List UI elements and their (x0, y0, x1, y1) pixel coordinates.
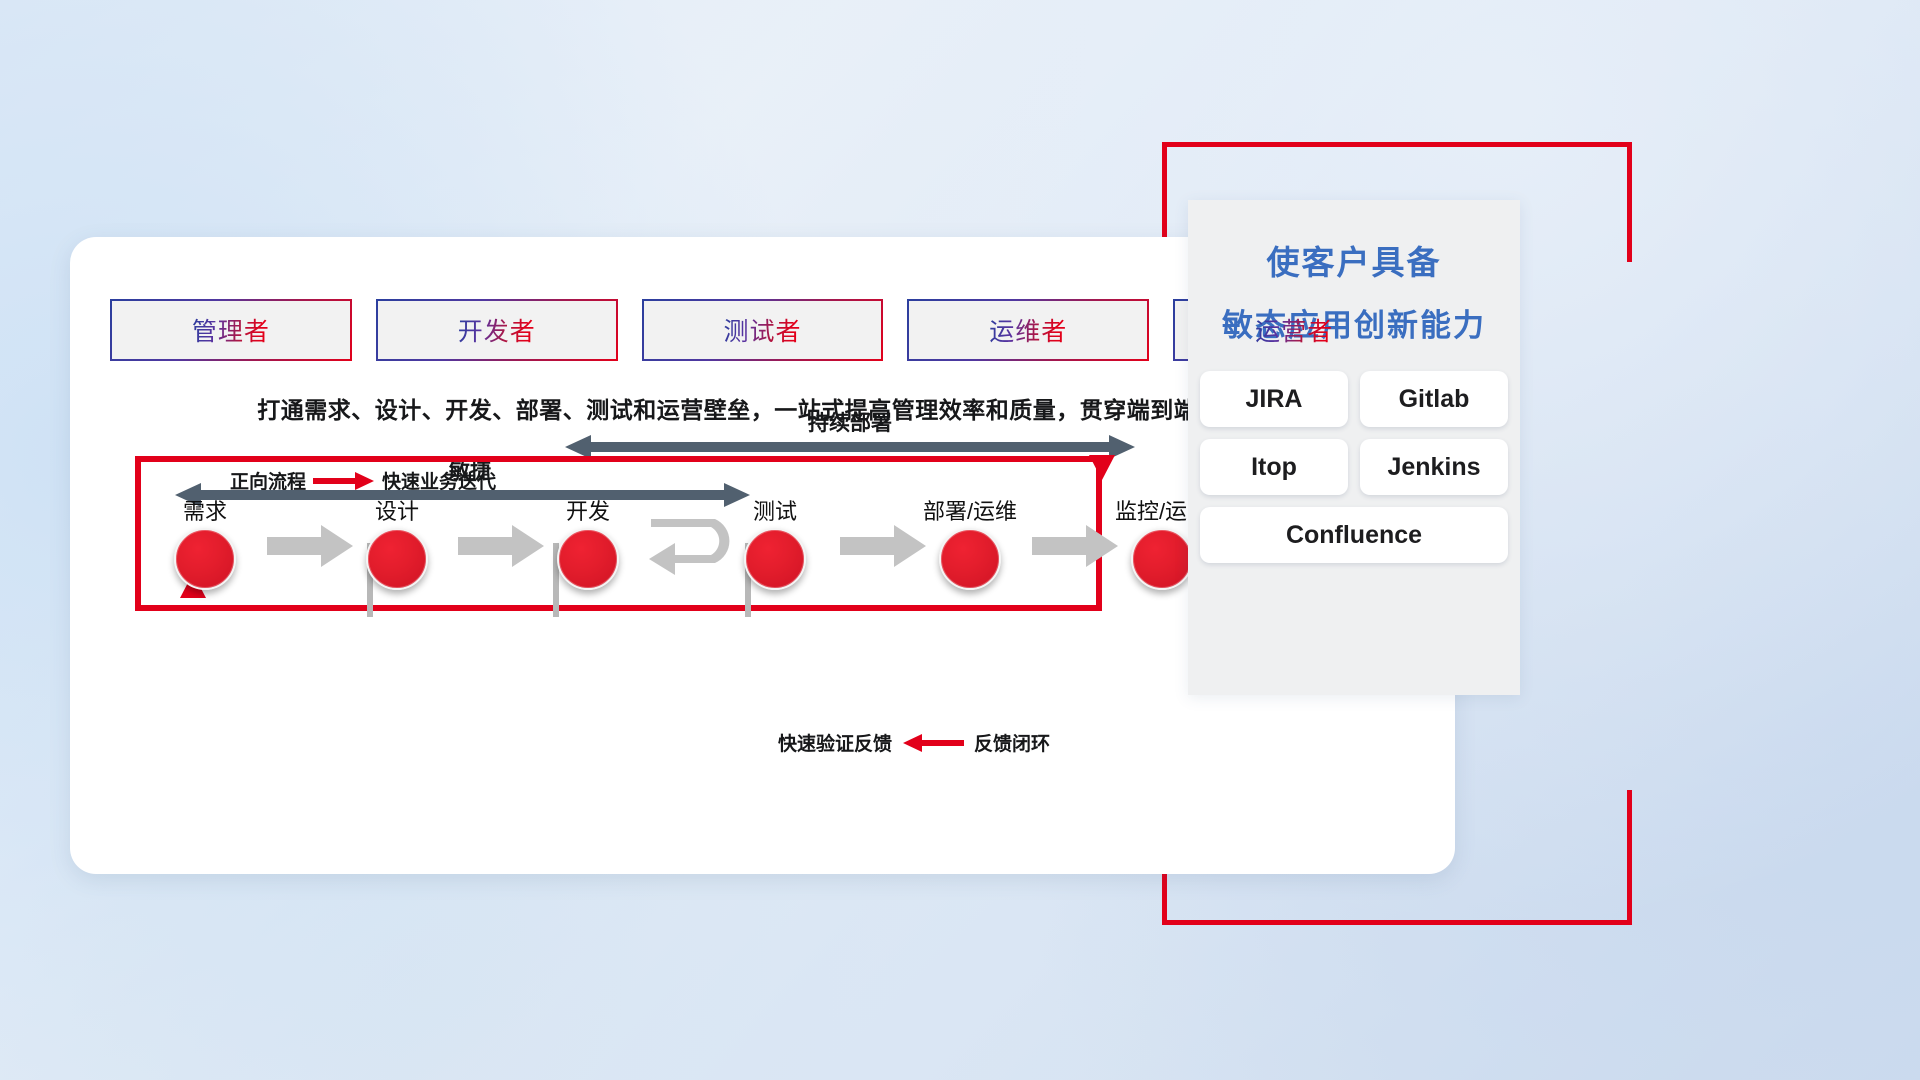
role-label: 测试者 (723, 312, 801, 348)
stage-testing[interactable]: 测试 (705, 494, 845, 590)
stage-label: 测试 (705, 494, 845, 526)
role-label: 运营者 (1255, 312, 1333, 348)
stage-label: 部署/运维 (900, 494, 1040, 526)
stage-label: 开发 (518, 494, 658, 526)
feedback-loop-legend: 快速验证反馈 反馈闭环 (778, 729, 1050, 756)
stage-row: 需求 设计 开发 测试 (100, 499, 1190, 599)
role-box-tester[interactable]: 测试者 (642, 299, 884, 361)
stage-circle-icon (939, 528, 1001, 590)
role-label: 运维者 (989, 312, 1067, 348)
tool-pill-confluence[interactable]: Confluence (1200, 507, 1508, 563)
panel-headline-line2: 敏态应用创新能力 (1188, 300, 1520, 345)
role-label: 管理者 (192, 312, 270, 348)
stage-circle-icon (174, 528, 236, 590)
stage-circle-icon (744, 528, 806, 590)
tool-list: JIRA Gitlab Itop Jenkins Confluence (1188, 371, 1520, 563)
stage-circle-icon (1131, 528, 1193, 590)
stage-label: 设计 (327, 494, 467, 526)
stage-design[interactable]: 设计 (327, 494, 467, 590)
panel-headline-line1: 使客户具备 (1188, 236, 1520, 284)
stage-label: 需求 (135, 494, 275, 526)
role-box-ops[interactable]: 运维者 (907, 299, 1149, 361)
stage-requirements[interactable]: 需求 (135, 494, 275, 590)
feedback-label-left: 快速验证反馈 (778, 729, 892, 756)
tools-panel: 使客户具备 敏态应用创新能力 JIRA Gitlab Itop Jenkins … (1188, 200, 1520, 695)
tool-pill-jenkins[interactable]: Jenkins (1360, 439, 1508, 495)
stage-circle-icon (557, 528, 619, 590)
loop-arrow-down-icon (1087, 455, 1117, 481)
tool-pill-jira[interactable]: JIRA (1200, 371, 1348, 427)
diagram-canvas: 管理者 开发者 测试者 运维者 运营者 打通需求、设计、开发、部署、测试和运营壁… (0, 0, 1920, 1080)
role-box-manager[interactable]: 管理者 (110, 299, 352, 361)
left-arrow-icon (902, 733, 964, 753)
role-label: 开发者 (458, 312, 536, 348)
tool-pill-itop[interactable]: Itop (1200, 439, 1348, 495)
stage-development[interactable]: 开发 (518, 494, 658, 590)
band-label-continuous-deployment: 持续部署 (570, 407, 1130, 437)
feedback-label-right: 反馈闭环 (974, 729, 1050, 756)
role-box-developer[interactable]: 开发者 (376, 299, 618, 361)
stage-deploy-ops[interactable]: 部署/运维 (900, 494, 1040, 590)
stage-circle-icon (366, 528, 428, 590)
tool-pill-gitlab[interactable]: Gitlab (1360, 371, 1508, 427)
